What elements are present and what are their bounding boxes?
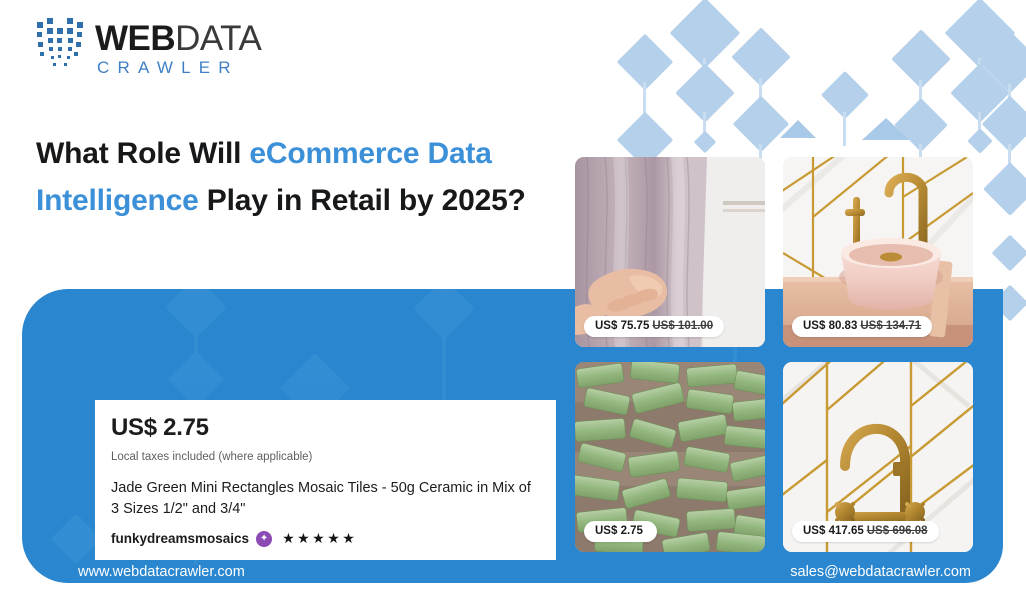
product-title: Jade Green Mini Rectangles Mosaic Tiles … <box>111 478 540 520</box>
footer-website[interactable]: www.webdatacrawler.com <box>78 564 245 580</box>
tax-note: Local taxes included (where applicable) <box>111 451 540 463</box>
price-current: US$ 80.83 <box>803 320 857 332</box>
poster-canvas: WEBDATA CRAWLER What Role Will eCommerce… <box>0 0 1026 589</box>
price-tag: US$ 2.75 <box>584 521 657 542</box>
page-title: What Role Will eCommerce Data Intelligen… <box>36 130 556 224</box>
logo-mark-icon <box>33 14 85 72</box>
logo-wordmark: WEBDATA <box>95 22 261 56</box>
shop-row: funkydreamsmosaics ✦ ★★★★★ <box>111 530 540 547</box>
price-original: US$ 696.08 <box>867 525 928 537</box>
product-image-grid: US$ 75.75US$ 101.00 <box>575 157 973 552</box>
product-tile-vessel-sink[interactable]: US$ 80.83US$ 134.71 <box>783 157 973 347</box>
shop-name[interactable]: funkydreamsmosaics <box>111 531 249 546</box>
rating-stars: ★★★★★ <box>282 530 357 547</box>
price-current: US$ 417.65 <box>803 525 864 537</box>
headline-part-2: Play in Retail by 2025? <box>199 184 526 217</box>
price-original: US$ 101.00 <box>652 320 713 332</box>
price-current: US$ 75.75 <box>595 320 649 332</box>
logo-word-web: WEB <box>95 19 175 58</box>
product-tile-brass-faucet[interactable]: US$ 417.65US$ 696.08 <box>783 362 973 552</box>
product-tile-mosaic-tiles[interactable]: US$ 2.75 <box>575 362 765 552</box>
headline-part-1: What Role Will <box>36 137 249 170</box>
product-tile-curtain[interactable]: US$ 75.75US$ 101.00 <box>575 157 765 347</box>
price-tag: US$ 75.75US$ 101.00 <box>584 316 724 337</box>
logo-tagline: CRAWLER <box>95 58 261 78</box>
brand-logo: WEBDATA CRAWLER <box>33 14 261 78</box>
price-original: US$ 134.71 <box>860 320 921 332</box>
price-current: US$ 2.75 <box>595 525 643 537</box>
product-info-card: US$ 2.75 Local taxes included (where app… <box>95 400 556 560</box>
price-tag: US$ 80.83US$ 134.71 <box>792 316 932 337</box>
footer-email[interactable]: sales@webdatacrawler.com <box>790 564 971 580</box>
price-tag: US$ 417.65US$ 696.08 <box>792 521 939 542</box>
logo-word-data: DATA <box>175 19 261 58</box>
product-price: US$ 2.75 <box>111 414 540 442</box>
star-seller-badge-icon: ✦ <box>256 531 272 547</box>
